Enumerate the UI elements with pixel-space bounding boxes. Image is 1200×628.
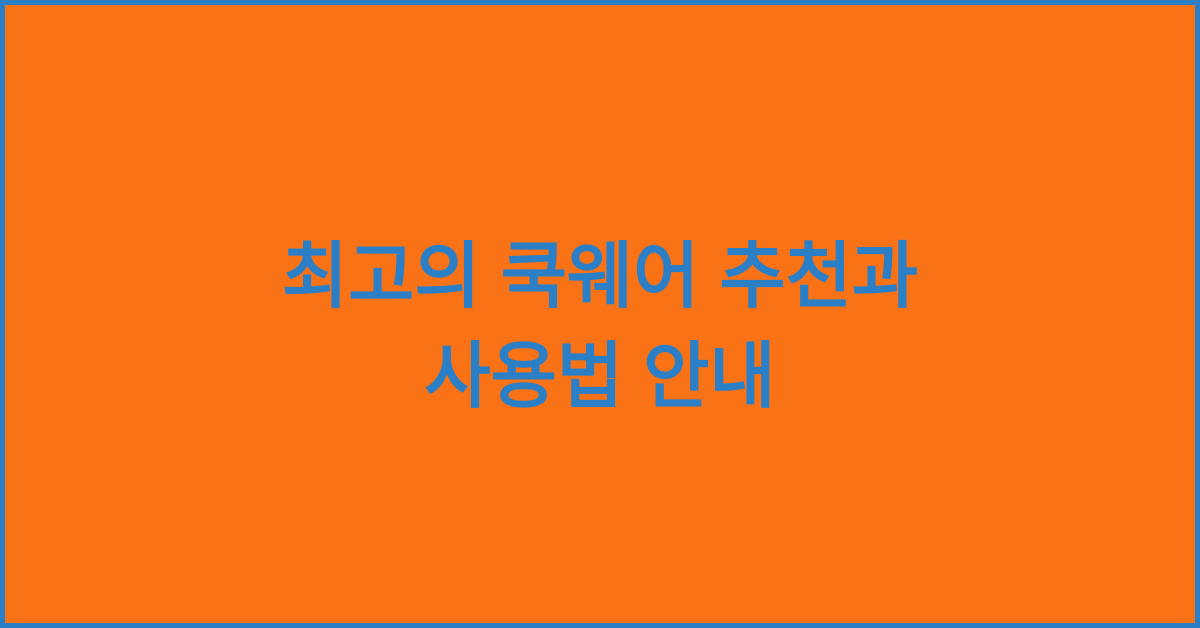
banner-background-surface: 최고의 쿡웨어 추천과 사용법 안내 xyxy=(5,5,1195,623)
banner-title-block: 최고의 쿡웨어 추천과 사용법 안내 xyxy=(5,227,1195,427)
banner-canvas: 최고의 쿡웨어 추천과 사용법 안내 xyxy=(0,0,1200,628)
banner-title-line-2: 사용법 안내 xyxy=(45,327,1155,427)
banner-title-line-1: 최고의 쿡웨어 추천과 xyxy=(45,227,1155,327)
